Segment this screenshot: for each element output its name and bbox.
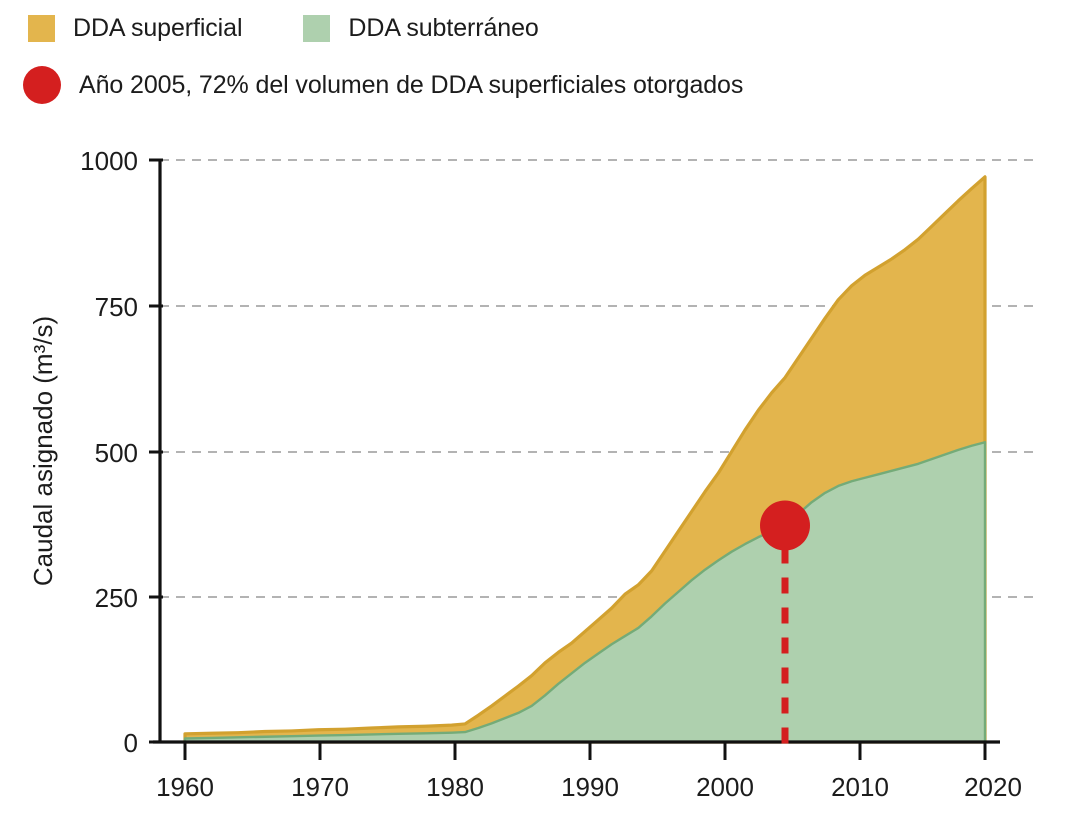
y-tick-labels: 1000 750 500 250 0 [80,146,138,758]
y-axis-title: Caudal asignado (m³/s) [28,316,58,586]
chart-legend: DDA superficial DDA subterráneo Año 2005… [0,0,1080,114]
x-tick-label-1990: 1990 [561,772,619,802]
legend-annotation-row: Año 2005, 72% del volumen de DDA superfi… [0,56,1080,114]
x-tick-label-2000: 2000 [696,772,754,802]
legend-item-annotation-2005[interactable]: Año 2005, 72% del volumen de DDA superfi… [28,66,743,104]
x-tick-label-1960: 1960 [156,772,214,802]
x-tick-label-1970: 1970 [291,772,349,802]
legend-annotation-label: Año 2005, 72% del volumen de DDA superfi… [79,73,743,98]
y-tick-label-500: 500 [95,438,138,468]
square-swatch-icon [28,15,55,42]
area-chart-svg: 1000 750 500 250 0 1960 1970 1980 1990 2… [0,120,1080,833]
chart-page: DDA superficial DDA subterráneo Año 2005… [0,0,1080,833]
square-swatch-icon [303,15,330,42]
legend-item-dda-superficial[interactable]: DDA superficial [28,15,242,42]
legend-item-label: DDA superficial [73,16,242,41]
y-tick-label-750: 750 [95,292,138,322]
y-tick-label-1000: 1000 [80,146,138,176]
y-tick-label-0: 0 [124,728,138,758]
area-dda-subterraneo [185,442,985,742]
y-tick-label-250: 250 [95,583,138,613]
legend-item-label: DDA subterráneo [348,16,538,41]
annotation-point-marker[interactable] [760,500,810,550]
circle-marker-icon [23,66,61,104]
x-tick-label-1980: 1980 [426,772,484,802]
x-tick-labels: 1960 1970 1980 1990 2000 2010 2020 [156,772,1022,802]
legend-series-row: DDA superficial DDA subterráneo [0,0,1080,56]
x-tick-label-2010: 2010 [831,772,889,802]
x-tick-label-2020: 2020 [964,772,1022,802]
legend-item-dda-subterraneo[interactable]: DDA subterráneo [303,15,538,42]
chart-container: 1000 750 500 250 0 1960 1970 1980 1990 2… [0,120,1080,833]
